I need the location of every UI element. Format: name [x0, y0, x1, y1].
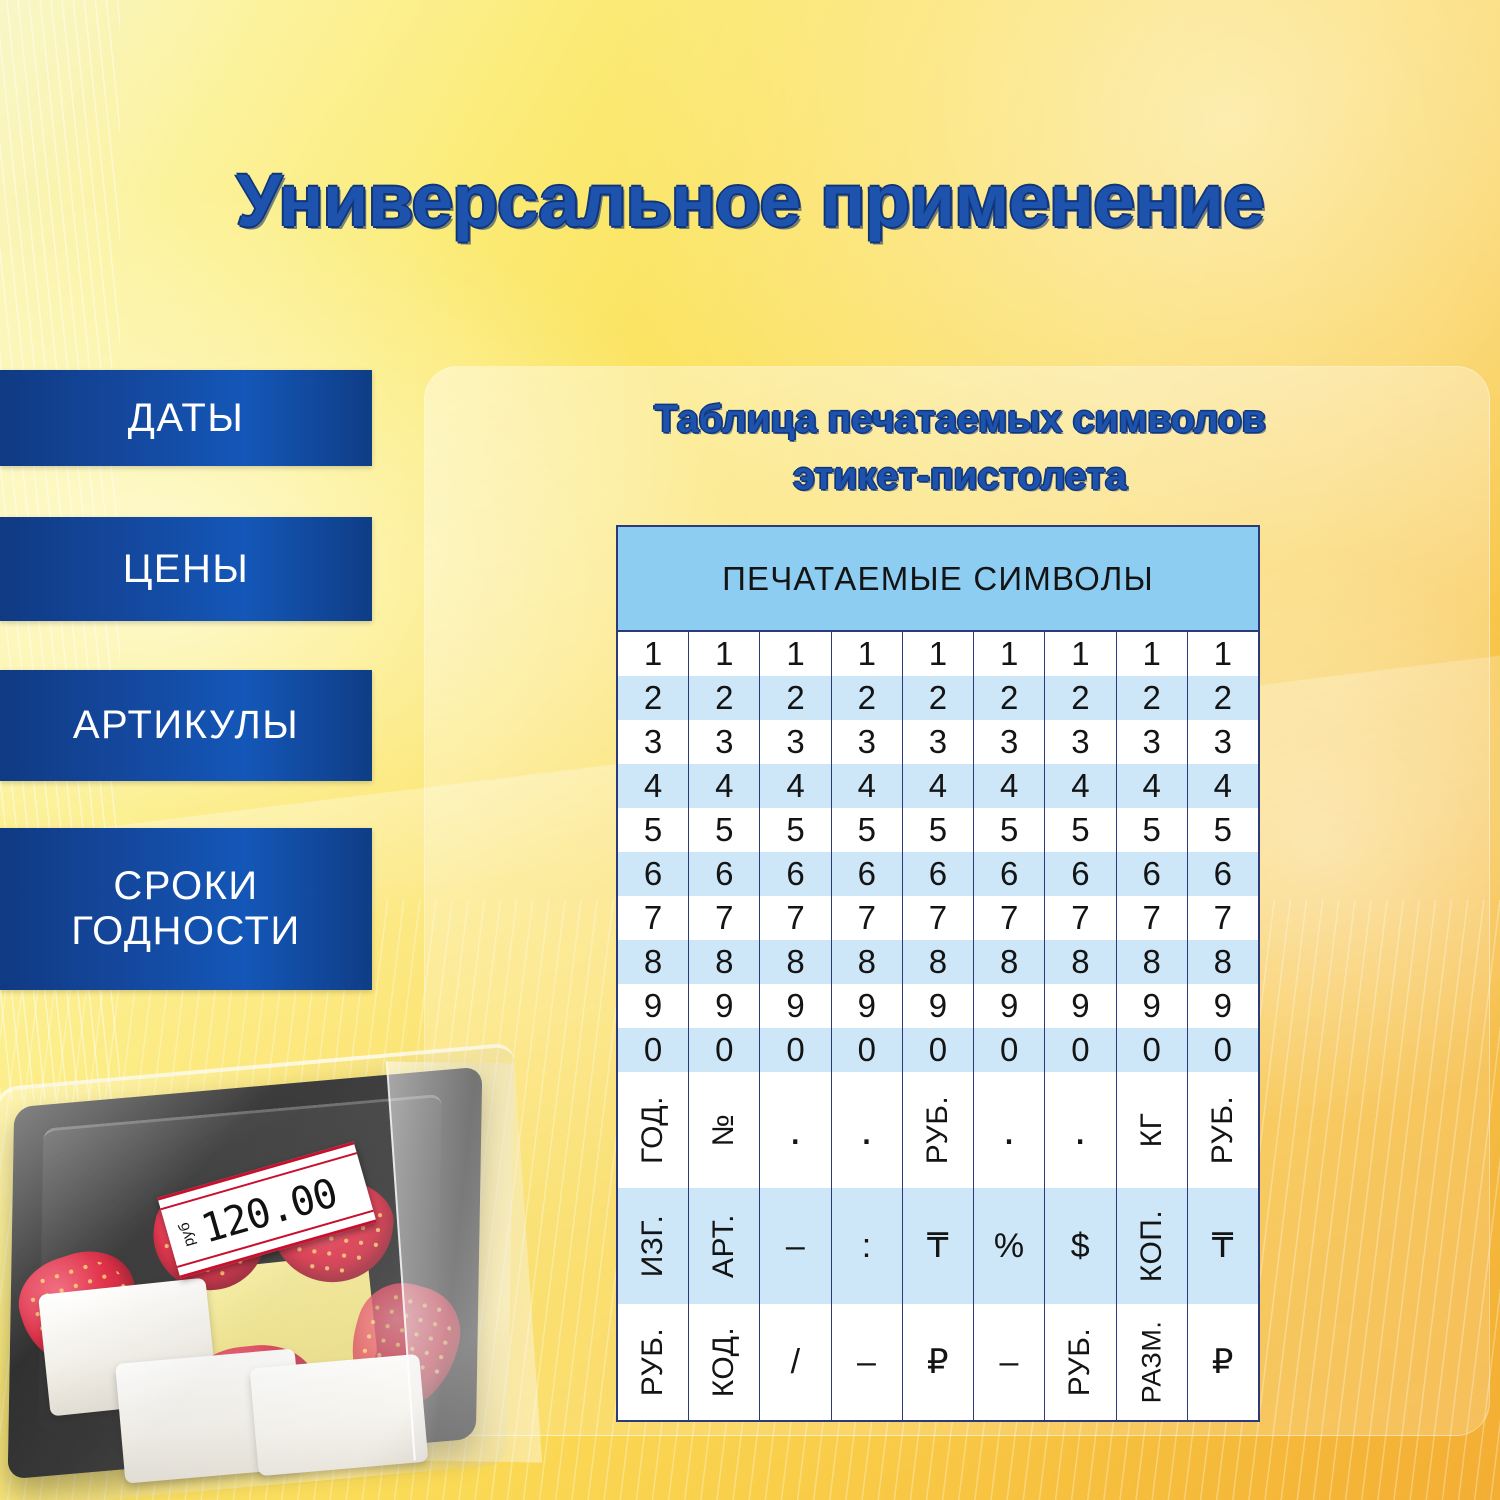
table-cell: 9	[832, 984, 903, 1028]
table-caption: Таблица печатаемых символовэтикет-пистол…	[500, 392, 1420, 505]
table-cell: 1	[832, 632, 903, 676]
table-row: 333333333	[618, 720, 1258, 764]
table-row: 666666666	[618, 852, 1258, 896]
feature-bar-label: ЦЕНЫ	[113, 547, 260, 592]
table-cell: 5	[1117, 808, 1188, 852]
table-cell: 2	[760, 676, 831, 720]
table-cell: .	[760, 1072, 831, 1188]
table-cell: ₽	[903, 1304, 974, 1420]
table-cell-text: КОП.	[1137, 1210, 1167, 1282]
table-cell: АРТ.	[689, 1188, 760, 1304]
table-cell: КОД.	[689, 1304, 760, 1420]
table-cell: 8	[1188, 940, 1258, 984]
printable-symbols-table: ПЕЧАТАЕМЫЕ СИМВОЛЫ 111111111222222222333…	[616, 525, 1260, 1422]
table-cell: –	[974, 1304, 1045, 1420]
table-cell: 6	[832, 852, 903, 896]
feature-bar-list: ДАТЫ ЦЕНЫ АРТИКУЛЫ СРОКИГОДНОСТИ	[0, 370, 372, 990]
table-cell: 1	[903, 632, 974, 676]
table-cell: 3	[1045, 720, 1116, 764]
table-cell-text: РУБ.	[923, 1096, 953, 1164]
table-cell-text: РУБ.	[1065, 1328, 1095, 1396]
table-cell: 4	[689, 764, 760, 808]
table-cell: 7	[832, 896, 903, 940]
table-cell: 8	[903, 940, 974, 984]
table-cell: 0	[903, 1028, 974, 1072]
table-cell: КГ	[1117, 1072, 1188, 1188]
feature-bar-label: АРТИКУЛЫ	[63, 703, 309, 748]
table-cell: 9	[1188, 984, 1258, 1028]
table-cell: .	[832, 1072, 903, 1188]
table-cell: 8	[974, 940, 1045, 984]
table-row: 999999999	[618, 984, 1258, 1028]
price-label-unit: руб	[175, 1220, 198, 1248]
feature-bar-label: ДАТЫ	[118, 396, 255, 441]
table-cell: 5	[903, 808, 974, 852]
table-cell-text: ₸	[1212, 1229, 1234, 1263]
table-cell: ₽	[1188, 1304, 1258, 1420]
table-cell: 4	[1045, 764, 1116, 808]
table-row: 555555555	[618, 808, 1258, 852]
table-cell: 8	[689, 940, 760, 984]
table-cell: 2	[903, 676, 974, 720]
table-cell: 6	[974, 852, 1045, 896]
table-cell: ИЗГ.	[618, 1188, 689, 1304]
table-cell: 0	[1188, 1028, 1258, 1072]
table-cell-text: %	[994, 1229, 1025, 1263]
table-cell: 6	[689, 852, 760, 896]
table-cell: 2	[832, 676, 903, 720]
table-cell: 0	[974, 1028, 1045, 1072]
table-cell-text: ₽	[927, 1345, 949, 1379]
table-cell-text: ₽	[1212, 1345, 1234, 1379]
table-cell-text: .	[789, 1121, 802, 1139]
table-cell: РУБ.	[903, 1072, 974, 1188]
table-cell-text: .	[1074, 1121, 1087, 1139]
table-cell-text: ₸	[927, 1229, 949, 1263]
table-cell-text: РУБ.	[638, 1328, 668, 1396]
table-cell: 9	[618, 984, 689, 1028]
table-cell: РУБ.	[1188, 1072, 1258, 1188]
table-cell-text: ГОД.	[638, 1096, 668, 1164]
table-cell: РУБ.	[1045, 1304, 1116, 1420]
table-cell: 7	[618, 896, 689, 940]
feature-bar-prices: ЦЕНЫ	[0, 517, 372, 621]
table-cell: 3	[832, 720, 903, 764]
table-cell: 4	[760, 764, 831, 808]
table-cell-text: :	[862, 1229, 872, 1263]
table-cell: 8	[832, 940, 903, 984]
table-cell: 3	[974, 720, 1045, 764]
table-cell: 3	[760, 720, 831, 764]
table-cell-text: КОД.	[709, 1327, 739, 1397]
table-row: 888888888	[618, 940, 1258, 984]
table-cell: .	[1045, 1072, 1116, 1188]
table-cell: 2	[1045, 676, 1116, 720]
table-cell: 4	[974, 764, 1045, 808]
table-row: 222222222	[618, 676, 1258, 720]
table-cell: 8	[1045, 940, 1116, 984]
table-cell: –	[760, 1188, 831, 1304]
table-cell: 2	[1188, 676, 1258, 720]
table-cell: 3	[1117, 720, 1188, 764]
table-cell: 3	[689, 720, 760, 764]
table-cell: 1	[618, 632, 689, 676]
table-cell: 6	[1117, 852, 1188, 896]
table-cell: 2	[974, 676, 1045, 720]
table-cell-text: ИЗГ.	[638, 1215, 668, 1278]
table-cell: 0	[832, 1028, 903, 1072]
table-cell-text: КГ	[1137, 1113, 1167, 1148]
feature-bar-articles: АРТИКУЛЫ	[0, 670, 372, 781]
table-row: РУБ.КОД./–₽–РУБ.РАЗМ.₽	[618, 1304, 1258, 1420]
table-body: 1111111112222222223333333334444444445555…	[618, 632, 1258, 1420]
table-cell: 7	[974, 896, 1045, 940]
feature-bar-label: СРОКИГОДНОСТИ	[61, 864, 310, 954]
container-lid-flap	[386, 1061, 542, 1462]
table-cell: 4	[832, 764, 903, 808]
table-cell: 0	[689, 1028, 760, 1072]
table-cell: 4	[1188, 764, 1258, 808]
table-cell: 5	[974, 808, 1045, 852]
table-cell: 7	[689, 896, 760, 940]
table-cell: №	[689, 1072, 760, 1188]
table-header-cell: ПЕЧАТАЕМЫЕ СИМВОЛЫ	[618, 527, 1258, 632]
table-cell: 8	[618, 940, 689, 984]
table-cell: 5	[689, 808, 760, 852]
page-title: Универсальное применение	[0, 158, 1500, 243]
table-cell-text: РУБ.	[1208, 1096, 1238, 1164]
table-cell: 7	[903, 896, 974, 940]
table-cell: 0	[1045, 1028, 1116, 1072]
table-cell: 5	[1045, 808, 1116, 852]
table-cell: 1	[1117, 632, 1188, 676]
table-cell: 8	[1117, 940, 1188, 984]
table-cell: 5	[832, 808, 903, 852]
table-cell-text: –	[857, 1345, 876, 1379]
table-cell: 6	[903, 852, 974, 896]
table-row: ГОД.№..РУБ...КГРУБ.	[618, 1072, 1258, 1188]
table-cell: 4	[903, 764, 974, 808]
table-cell: 0	[760, 1028, 831, 1072]
table-cell-text: .	[860, 1121, 873, 1139]
poster-stage: Универсальное применение ДАТЫ ЦЕНЫ АРТИК…	[0, 0, 1500, 1500]
table-cell: 9	[903, 984, 974, 1028]
table-cell: 8	[760, 940, 831, 984]
table-cell: 6	[618, 852, 689, 896]
table-cell: 3	[903, 720, 974, 764]
table-row: 444444444	[618, 764, 1258, 808]
table-cell: 7	[760, 896, 831, 940]
table-cell: 2	[618, 676, 689, 720]
table-cell-text: $	[1071, 1229, 1090, 1263]
table-row: 111111111	[618, 632, 1258, 676]
table-cell: 9	[1117, 984, 1188, 1028]
table-cell: 1	[1045, 632, 1116, 676]
table-cell: 3	[1188, 720, 1258, 764]
table-cell: ₸	[1188, 1188, 1258, 1304]
table-cell: %	[974, 1188, 1045, 1304]
table-cell: ГОД.	[618, 1072, 689, 1188]
table-cell: /	[760, 1304, 831, 1420]
table-cell: 0	[618, 1028, 689, 1072]
table-cell: 7	[1117, 896, 1188, 940]
table-cell: $	[1045, 1188, 1116, 1304]
table-cell: 6	[760, 852, 831, 896]
table-cell: :	[832, 1188, 903, 1304]
table-cell: 5	[760, 808, 831, 852]
table-cell: 1	[1188, 632, 1258, 676]
table-cell: –	[832, 1304, 903, 1420]
table-cell: 2	[1117, 676, 1188, 720]
table-cell-text: .	[1003, 1121, 1016, 1139]
table-cell: 6	[1045, 852, 1116, 896]
feature-bar-dates: ДАТЫ	[0, 370, 372, 466]
table-cell: 9	[760, 984, 831, 1028]
table-cell-text: /	[791, 1345, 801, 1379]
table-cell-text: АРТ.	[709, 1214, 739, 1278]
table-cell: ₸	[903, 1188, 974, 1304]
table-cell: 3	[618, 720, 689, 764]
table-cell: КОП.	[1117, 1188, 1188, 1304]
table-cell: 1	[689, 632, 760, 676]
table-cell: 5	[1188, 808, 1258, 852]
table-row: 777777777	[618, 896, 1258, 940]
table-cell: 2	[689, 676, 760, 720]
table-cell: РАЗМ.	[1117, 1304, 1188, 1420]
table-row: ИЗГ.АРТ.–:₸%$КОП.₸	[618, 1188, 1258, 1304]
table-cell: .	[974, 1072, 1045, 1188]
table-row: 000000000	[618, 1028, 1258, 1072]
feature-bar-shelf-life: СРОКИГОДНОСТИ	[0, 828, 372, 990]
table-cell: 9	[974, 984, 1045, 1028]
table-cell-text: РАЗМ.	[1138, 1321, 1165, 1404]
table-cell-text: –	[999, 1345, 1018, 1379]
table-cell: 6	[1188, 852, 1258, 896]
table-cell: 9	[689, 984, 760, 1028]
table-cell-text: –	[786, 1229, 805, 1263]
table-cell: 9	[1045, 984, 1116, 1028]
table-cell-text: №	[709, 1114, 739, 1147]
table-cell: 7	[1188, 896, 1258, 940]
table-cell: 7	[1045, 896, 1116, 940]
table-cell: 4	[1117, 764, 1188, 808]
table-cell: 4	[618, 764, 689, 808]
table-cell: 1	[974, 632, 1045, 676]
table-cell: 1	[760, 632, 831, 676]
product-photo	[0, 1046, 540, 1500]
table-cell: РУБ.	[618, 1304, 689, 1420]
table-cell: 0	[1117, 1028, 1188, 1072]
table-cell: 5	[618, 808, 689, 852]
